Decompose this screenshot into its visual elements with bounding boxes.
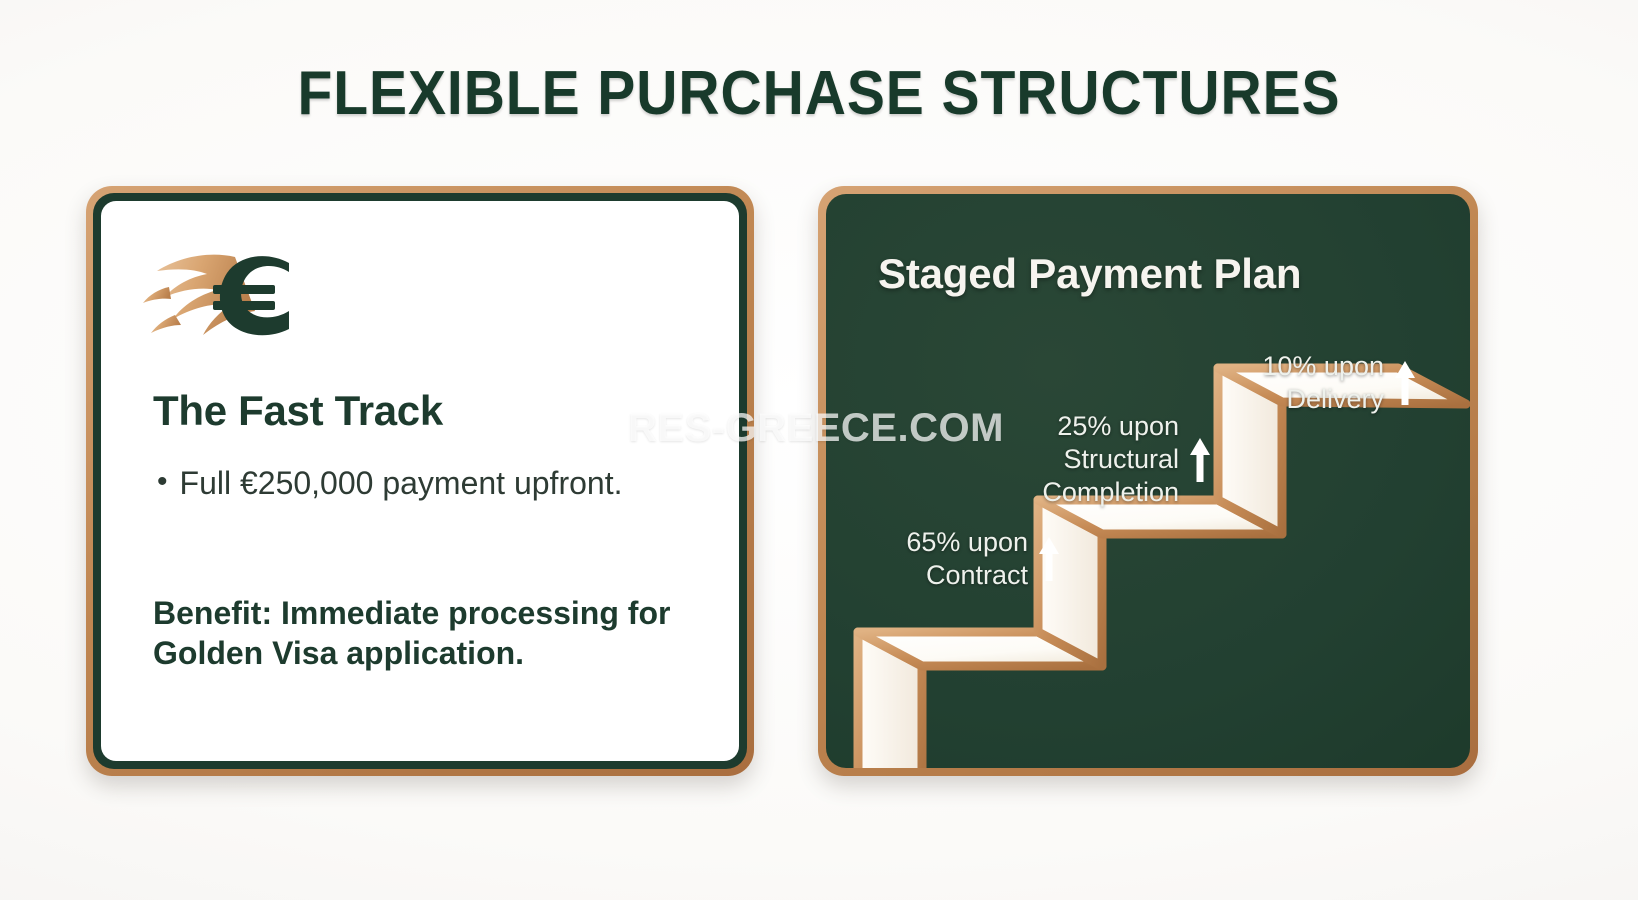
step-label-delivery: 10% upon Delivery: [1216, 350, 1416, 416]
step-label-contract: 65% upon Contract: [850, 526, 1060, 592]
fast-track-benefit-text: Benefit: Immediate processing for Golden…: [153, 593, 733, 673]
slide-canvas: FLEXIBLE PURCHASE STRUCTURES: [0, 0, 1638, 900]
staircase-step-2: [1038, 500, 1282, 666]
arrow-up-icon: [1394, 359, 1416, 407]
step-label-delivery-text: 10% upon Delivery: [1262, 350, 1384, 416]
flaming-euro-icon: [139, 241, 319, 351]
step-label-structural-completion: 25% upon Structural Completion: [996, 410, 1211, 509]
fast-track-bullet-item: • Full €250,000 payment upfront.: [153, 463, 713, 503]
step-label-structural-completion-text: 25% upon Structural Completion: [1042, 410, 1179, 509]
arrow-up-icon: [1189, 436, 1211, 484]
fast-track-card-inner-border: The Fast Track • Full €250,000 payment u…: [93, 193, 747, 769]
staircase-step-1: [858, 632, 1102, 768]
fast-track-card-body: The Fast Track • Full €250,000 payment u…: [101, 201, 739, 761]
bullet-marker-icon: •: [157, 463, 168, 501]
staged-payment-card-body: Staged Payment Plan: [826, 194, 1470, 768]
staged-payment-card: Staged Payment Plan: [818, 186, 1478, 776]
fast-track-card: The Fast Track • Full €250,000 payment u…: [86, 186, 754, 776]
arrow-up-icon: [1038, 535, 1060, 583]
fast-track-heading: The Fast Track: [153, 387, 443, 435]
page-title: FLEXIBLE PURCHASE STRUCTURES: [66, 58, 1573, 129]
step-label-contract-text: 65% upon Contract: [906, 526, 1028, 592]
fast-track-bullet-text: Full €250,000 payment upfront.: [180, 463, 623, 503]
